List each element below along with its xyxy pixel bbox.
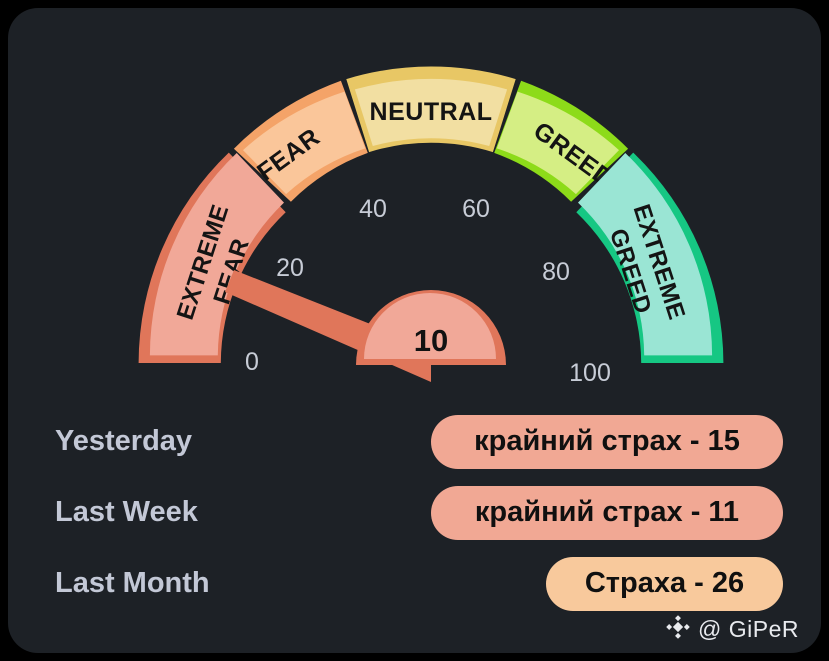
history-list: Yesterday крайний страх - 15 Last Week к…: [8, 406, 821, 619]
history-row-yesterday: Yesterday крайний страх - 15: [8, 406, 821, 477]
tick-label-100: 100: [569, 359, 611, 387]
row-label-last-month: Last Month: [55, 567, 210, 600]
screenshot-root: EXTREME FEAR FEAR NEUTRAL: [0, 0, 829, 661]
watermark-text: @ GiPeR: [698, 616, 799, 643]
tick-label-20: 20: [276, 254, 304, 282]
row-value-last-month: Страха - 26: [546, 557, 783, 611]
gauge-segment-extreme-greed[interactable]: EXTREME GREED: [576, 153, 723, 363]
row-value-last-week: крайний страх - 11: [431, 486, 783, 540]
gauge-hub: 10: [356, 290, 506, 365]
tick-label-80: 80: [542, 258, 570, 286]
gauge-value-label: 10: [414, 323, 448, 358]
row-value-yesterday: крайний страх - 15: [431, 415, 783, 469]
history-row-last-week: Last Week крайний страх - 11: [8, 477, 821, 548]
binance-logo-icon: [665, 614, 691, 645]
row-label-yesterday: Yesterday: [55, 425, 192, 458]
segment-label-neutral: NEUTRAL: [370, 98, 493, 126]
fear-greed-card: EXTREME FEAR FEAR NEUTRAL: [8, 8, 821, 653]
gauge-segment-extreme-fear[interactable]: EXTREME FEAR: [139, 153, 286, 363]
gauge-svg: EXTREME FEAR FEAR NEUTRAL: [8, 8, 821, 408]
tick-label-40: 40: [359, 195, 387, 223]
watermark: @ GiPeR: [665, 614, 799, 645]
tick-label-60: 60: [462, 195, 490, 223]
gauge-segment-neutral[interactable]: NEUTRAL: [346, 67, 515, 153]
row-label-last-week: Last Week: [55, 496, 198, 529]
tick-label-0: 0: [245, 348, 259, 376]
gauge-chart: EXTREME FEAR FEAR NEUTRAL: [8, 8, 821, 408]
history-row-last-month: Last Month Страха - 26: [8, 548, 821, 619]
